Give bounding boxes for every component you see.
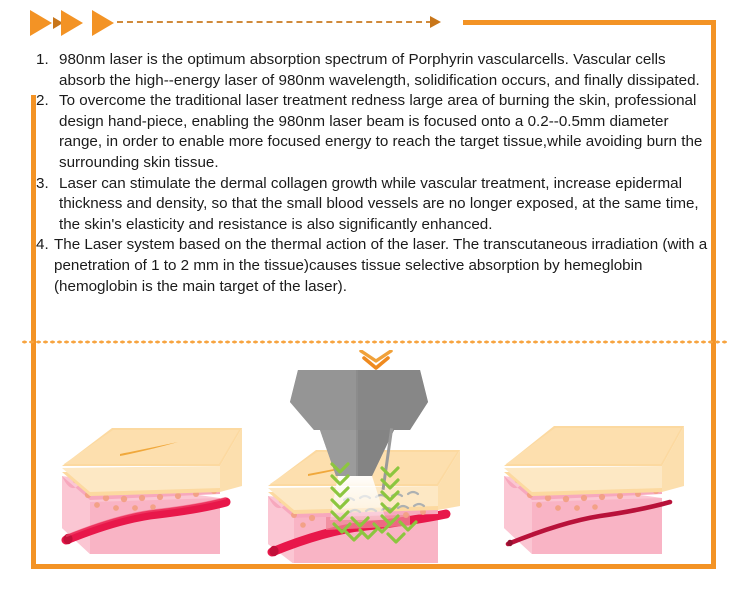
header-arrow-decoration	[30, 8, 450, 38]
list-item-text: The Laser system based on the thermal ac…	[54, 236, 707, 294]
list-item-number: 2.	[36, 91, 58, 112]
skin-during-laser-treatment-figure	[260, 368, 490, 568]
triangle-arrow-icon	[30, 10, 52, 36]
triangle-arrow-icon	[61, 10, 83, 36]
triangle-arrow-icon	[92, 10, 114, 36]
dashed-rule-arrowhead-icon	[430, 16, 441, 28]
illustration-row	[36, 368, 712, 563]
list-item-number: 1.	[36, 50, 58, 71]
frame-border-top-right	[463, 20, 716, 25]
skin-after-treatment-figure	[502, 368, 702, 568]
list-item-text: Laser can stimulate the dermal collagen …	[59, 175, 699, 233]
list-item-number: 4.	[36, 235, 54, 256]
list-item-number: 3.	[36, 174, 58, 195]
list-item: 4.The Laser system based on the thermal …	[36, 235, 708, 297]
skin-before-treatment-figure	[50, 368, 250, 568]
section-divider	[21, 340, 729, 344]
list-item: 3.Laser can stimulate the dermal collage…	[36, 174, 708, 236]
list-item-text: 980nm laser is the optimum absorption sp…	[59, 51, 700, 89]
feature-list: 1.980nm laser is the optimum absorption …	[36, 50, 708, 297]
list-item-text: To overcome the traditional laser treatm…	[59, 92, 702, 171]
dashed-rule	[117, 21, 432, 23]
list-item: 2.To overcome the traditional laser trea…	[36, 91, 708, 173]
list-item: 1.980nm laser is the optimum absorption …	[36, 50, 708, 91]
feature-text-block: 1.980nm laser is the optimum absorption …	[36, 50, 708, 297]
